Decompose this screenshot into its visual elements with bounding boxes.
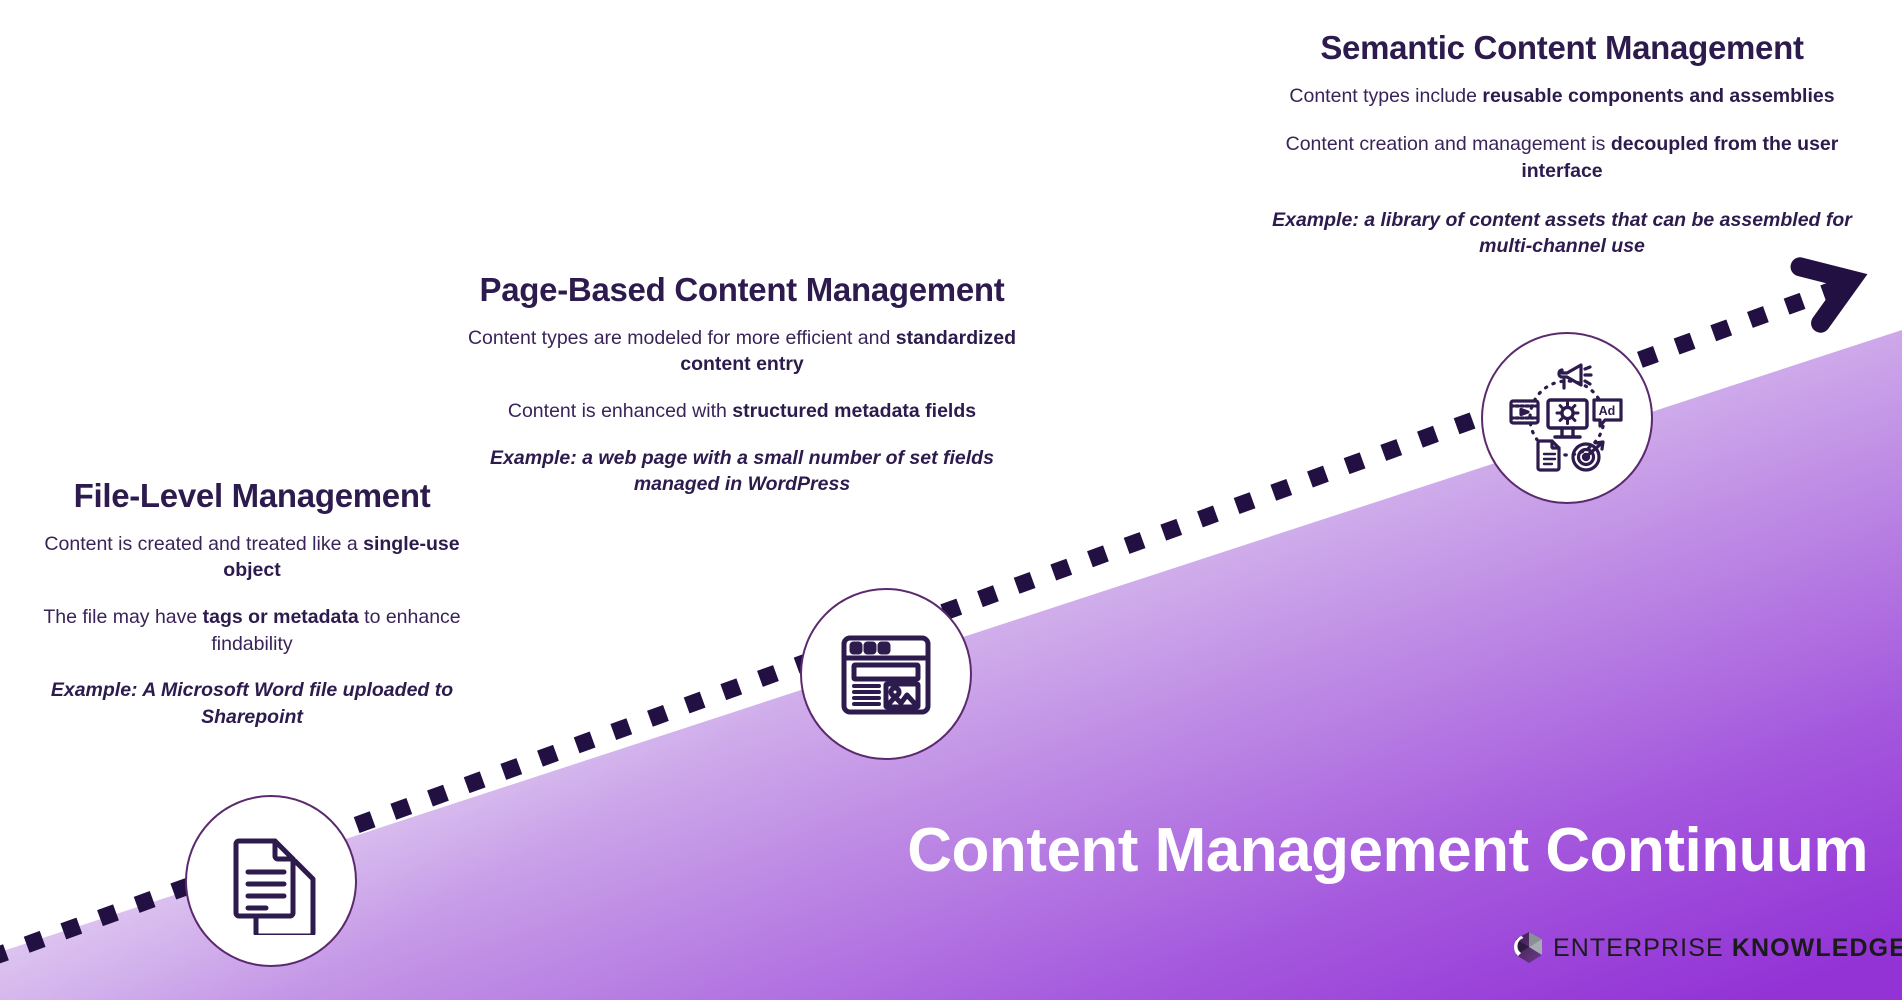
stage-example-file-level: Example: A Microsoft Word file uploaded …: [42, 677, 462, 730]
stage-point: Content creation and management is decou…: [1262, 131, 1862, 184]
arrow-head-icon: [1800, 252, 1862, 323]
stage-icon-circle-page-based: [800, 588, 972, 760]
stage-text-page-based: Page-Based Content Management Content ty…: [462, 272, 1022, 498]
stage-point: Content is created and treated like a si…: [42, 531, 462, 584]
logo-word-knowledge: KNOWLEDGE: [1732, 934, 1902, 962]
stage-point: Content types include reusable component…: [1262, 83, 1862, 110]
enterprise-knowledge-mark-icon: [1512, 930, 1546, 966]
stage-text-file-level: File-Level Management Content is created…: [42, 478, 462, 730]
brand-logo: ENTERPRISE KNOWLEDGE: [1512, 930, 1902, 966]
stage-point-strong: tags or metadata: [203, 606, 359, 628]
document-stack-icon: [217, 827, 325, 935]
stage-point-strong: structured metadata fields: [732, 400, 976, 422]
stage-heading-page-based: Page-Based Content Management: [462, 272, 1022, 309]
stage-point: Content is enhanced with structured meta…: [462, 398, 1022, 425]
stage-text-semantic: Semantic Content Management Content type…: [1262, 30, 1862, 260]
stage-point-lead: The file may have: [43, 606, 202, 628]
stage-point-lead: Content is created and treated like a: [44, 533, 363, 555]
logo-wordmark: ENTERPRISE KNOWLEDGE: [1553, 934, 1902, 963]
stage-example-page-based: Example: a web page with a small number …: [462, 445, 1022, 498]
stage-icon-circle-semantic: Ad: [1481, 332, 1653, 504]
stage-point-lead: Content types include: [1289, 85, 1482, 107]
content-management-continuum-infographic: Ad File-Level Managemen: [0, 0, 1902, 1000]
web-page-icon: [832, 620, 940, 728]
stage-icon-circle-file-level: [185, 795, 357, 967]
stage-point: Content types are modeled for more effic…: [462, 325, 1022, 378]
page-title: Content Management Continuum: [748, 820, 1868, 882]
stage-point: The file may have tags or metadata to en…: [42, 604, 462, 657]
stage-example-semantic: Example: a library of content assets tha…: [1262, 207, 1862, 260]
logo-word-enterprise: ENTERPRISE: [1553, 934, 1724, 962]
stage-point-strong: reusable components and assemblies: [1482, 85, 1834, 107]
stage-heading-file-level: File-Level Management: [42, 478, 462, 515]
svg-text:Ad: Ad: [1599, 404, 1616, 418]
multichannel-hub-icon: Ad: [1504, 355, 1630, 481]
stage-point-lead: Content is enhanced with: [508, 400, 732, 422]
stage-point-lead: Content creation and management is: [1286, 133, 1611, 155]
stage-heading-semantic: Semantic Content Management: [1262, 30, 1862, 67]
stage-point-lead: Content types are modeled for more effic…: [468, 327, 896, 349]
